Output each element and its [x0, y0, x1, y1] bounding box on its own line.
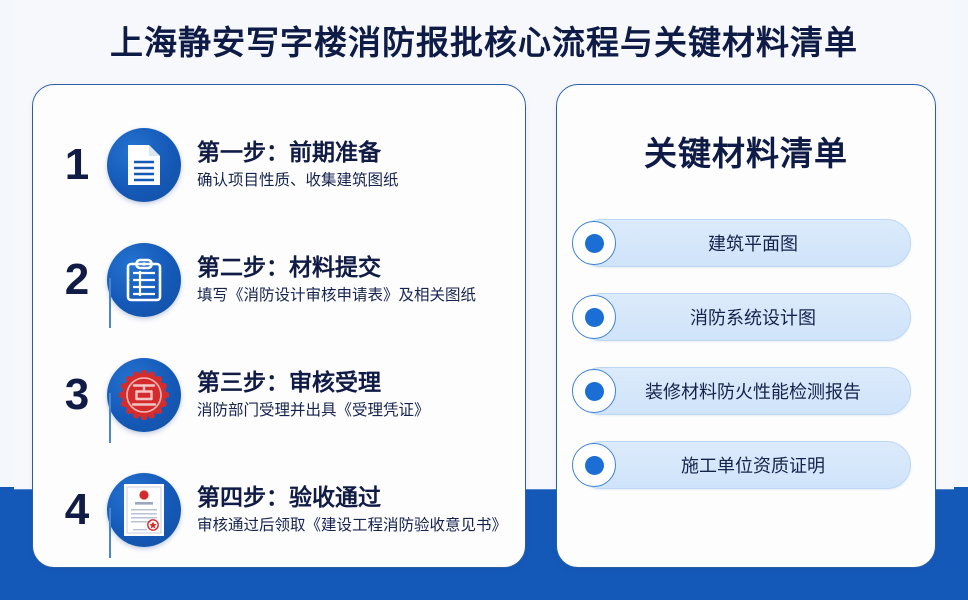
material-item-4[interactable]: 施工单位资质证明: [577, 441, 911, 489]
bullet-dot-icon: [572, 443, 616, 487]
step-number-3: 3: [53, 373, 101, 417]
material-item-2[interactable]: 消防系统设计图: [577, 293, 911, 341]
step-desc-4: 审核通过后领取《建设工程消防验收意见书》: [197, 516, 525, 536]
materials-heading: 关键材料清单: [557, 127, 935, 175]
material-label-2: 消防系统设计图: [578, 304, 910, 330]
step-connector-2-3: [109, 393, 111, 443]
step-item-1[interactable]: 1 第一步：前期准备 确认项目性质、收集建筑图纸: [33, 107, 525, 222]
step-text-1: 第一步：前期准备 确认项目性质、收集建筑图纸: [197, 138, 525, 191]
bullet-dot-icon: [572, 221, 616, 265]
process-steps-card: 1 第一步：前期准备 确认项目性质、收集建筑图纸: [32, 84, 526, 568]
page-title: 上海静安写字楼消防报批核心流程与关键材料清单: [0, 16, 968, 64]
step-title-1: 第一步：前期准备: [197, 138, 525, 167]
step-desc-1: 确认项目性质、收集建筑图纸: [197, 171, 525, 191]
step-item-2[interactable]: 2 第二步：材料提交 填写《消防设计审核申请表》及: [33, 222, 525, 337]
material-item-3[interactable]: 装修材料防火性能检测报告: [577, 367, 911, 415]
material-item-1[interactable]: 建筑平面图: [577, 219, 911, 267]
document-icon: [107, 128, 181, 202]
step-title-2: 第二步：材料提交: [197, 253, 525, 282]
step-desc-3: 消防部门受理并出具《受理凭证》: [197, 401, 525, 421]
key-materials-card: 关键材料清单 建筑平面图 消防系统设计图 装修材料防火性能检测报告 施工单位资质…: [556, 84, 936, 568]
step-item-4[interactable]: 4: [33, 452, 525, 567]
step-number-2: 2: [53, 258, 101, 302]
step-desc-2: 填写《消防设计审核申请表》及相关图纸: [197, 286, 525, 306]
step-item-3[interactable]: 3: [33, 337, 525, 452]
materials-panel: 关键材料清单 建筑平面图 消防系统设计图 装修材料防火性能检测报告 施工单位资质…: [557, 85, 935, 567]
material-label-4: 施工单位资质证明: [578, 452, 910, 478]
step-title-4: 第四步：验收通过: [197, 483, 525, 512]
step-number-1: 1: [53, 143, 101, 187]
materials-list: 建筑平面图 消防系统设计图 装修材料防火性能检测报告 施工单位资质证明: [557, 219, 935, 489]
step-text-2: 第二步：材料提交 填写《消防设计审核申请表》及相关图纸: [197, 253, 525, 306]
step-connector-3-4: [109, 508, 111, 558]
step-connector-1-2: [109, 278, 111, 328]
steps-list: 1 第一步：前期准备 确认项目性质、收集建筑图纸: [33, 85, 525, 567]
seal-stamp-icon: [107, 358, 181, 432]
step-number-4: 4: [53, 488, 101, 532]
bullet-dot-icon: [572, 369, 616, 413]
step-text-3: 第三步：审核受理 消防部门受理并出具《受理凭证》: [197, 368, 525, 421]
clipboard-icon: [107, 243, 181, 317]
step-title-3: 第三步：审核受理: [197, 368, 525, 397]
material-label-3: 装修材料防火性能检测报告: [578, 378, 910, 404]
certificate-icon: [107, 473, 181, 547]
step-text-4: 第四步：验收通过 审核通过后领取《建设工程消防验收意见书》: [197, 483, 525, 536]
bullet-dot-icon: [572, 295, 616, 339]
material-label-1: 建筑平面图: [578, 230, 910, 256]
